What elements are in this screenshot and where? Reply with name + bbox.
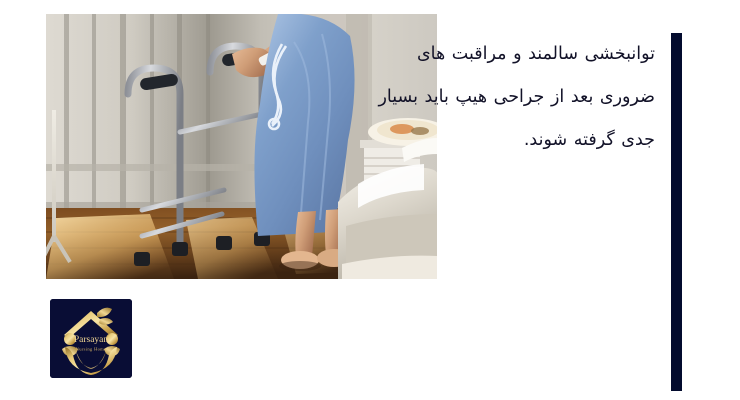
parsayan-nursing-home-logo-icon: Parsayan Nursing Home (50, 299, 132, 378)
logo-tagline: Nursing Home (76, 347, 107, 352)
logo-brand-name: Parsayan (74, 335, 109, 345)
article-quote: توانبخشی سالمند و مراقبت های ضروری بعد ا… (369, 33, 682, 391)
parsayan-logo[interactable]: Parsayan Nursing Home (50, 299, 132, 378)
quote-text: توانبخشی سالمند و مراقبت های ضروری بعد ا… (369, 33, 655, 162)
